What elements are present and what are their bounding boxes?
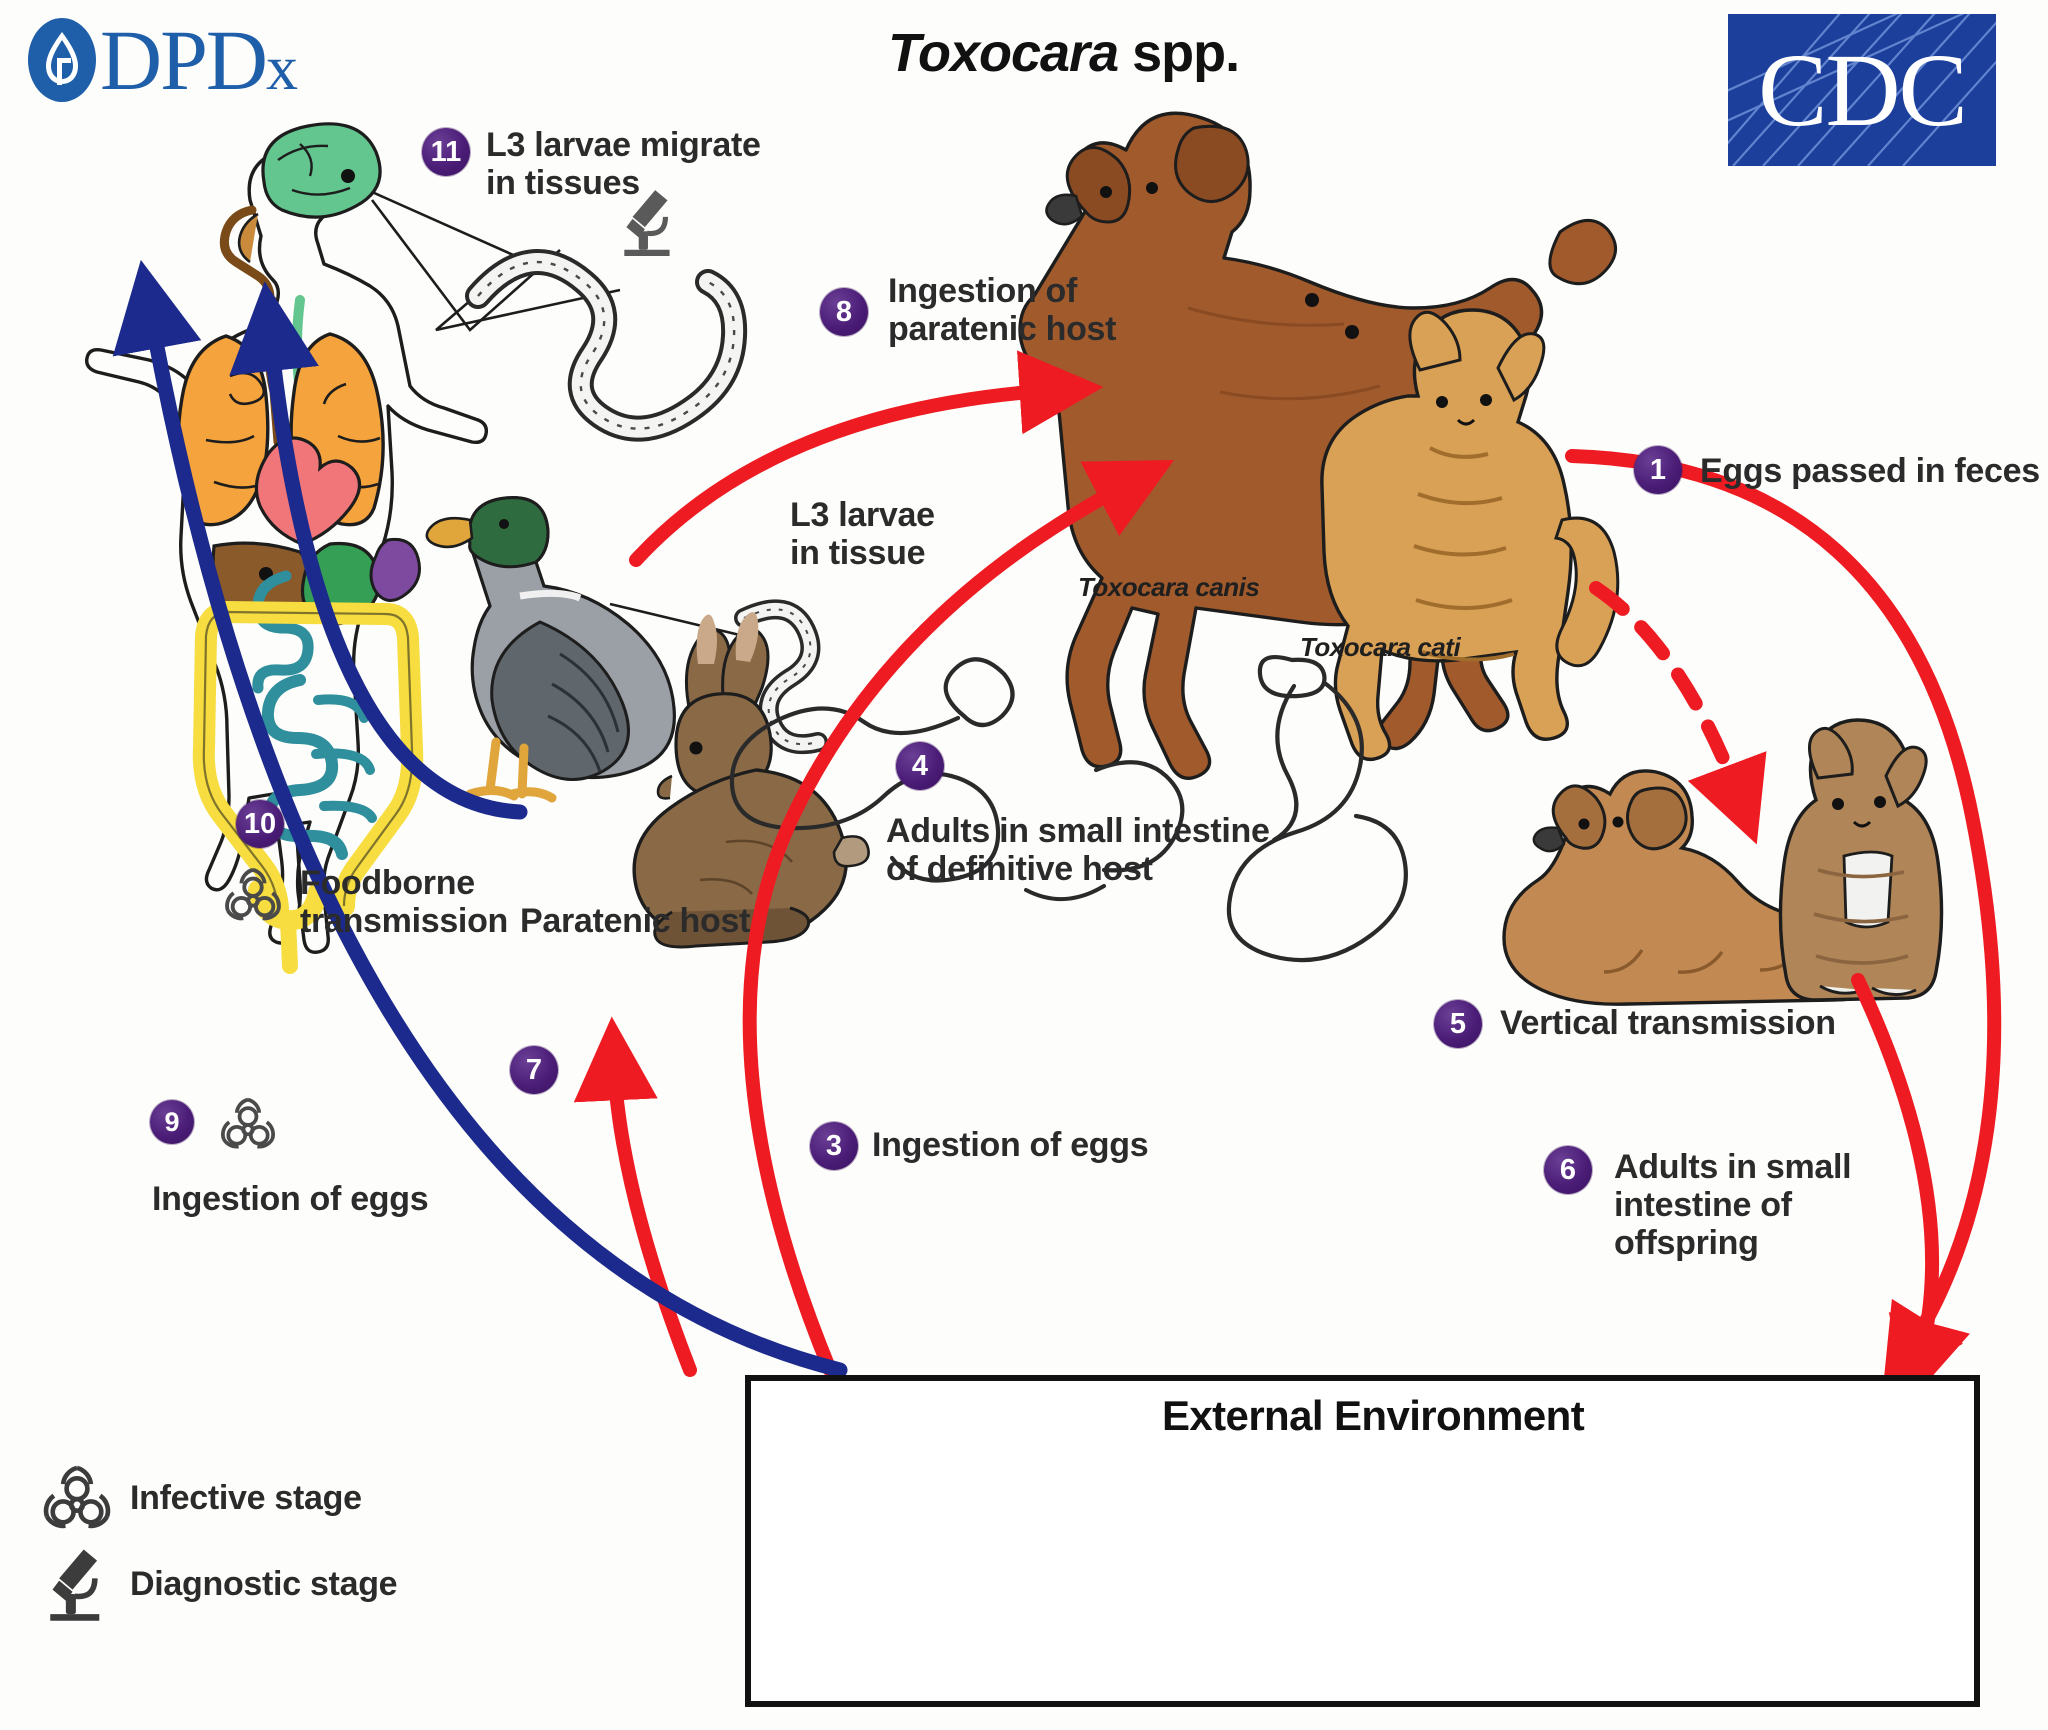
arrow-step-5-vertical bbox=[1596, 588, 1740, 800]
biohazard-icon-step-10 bbox=[222, 864, 284, 926]
step-label-4: Adults in small intestine of definitive … bbox=[886, 812, 1270, 888]
step-badge-10[interactable]: 10 bbox=[236, 800, 284, 848]
biohazard-icon bbox=[40, 1461, 114, 1535]
step-badge-5[interactable]: 5 bbox=[1434, 1000, 1482, 1048]
step-label-5: Vertical transmission bbox=[1500, 1004, 1836, 1042]
step-badge-9[interactable]: 9 bbox=[150, 1100, 194, 1144]
label-paratenic-host: Paratenic host bbox=[520, 902, 750, 940]
kitten-figure bbox=[1780, 720, 1941, 1000]
microscope-icon bbox=[40, 1545, 114, 1623]
step-label-9: Ingestion of eggs bbox=[152, 1180, 428, 1218]
biohazard-icon-step-9 bbox=[218, 1094, 278, 1154]
human-anatomy-figure bbox=[87, 124, 487, 966]
step-badge-4[interactable]: 4 bbox=[896, 742, 944, 790]
step-badge-3[interactable]: 3 bbox=[810, 1122, 858, 1170]
human-leader-lines bbox=[372, 192, 620, 330]
legend-row-infective: Infective stage bbox=[40, 1455, 397, 1541]
arrow-step-7 bbox=[614, 1064, 690, 1370]
legend-row-diagnostic: Diagnostic stage bbox=[40, 1541, 397, 1627]
step-badge-11[interactable]: 11 bbox=[422, 128, 470, 176]
external-environment-title: External Environment bbox=[1162, 1392, 1584, 1440]
step-label-3: Ingestion of eggs bbox=[872, 1126, 1148, 1164]
rabbit-figure bbox=[634, 612, 868, 947]
microscope-icon-step-11 bbox=[616, 186, 682, 258]
legend: Infective stage Diagnostic stage bbox=[40, 1455, 397, 1627]
step-badge-8[interactable]: 8 bbox=[820, 288, 868, 336]
duck-figure bbox=[427, 498, 675, 798]
label-l3-larvae-in-tissue: L3 larvae in tissue bbox=[790, 496, 935, 572]
step-badge-6[interactable]: 6 bbox=[1544, 1146, 1592, 1194]
step-label-1: Eggs passed in feces bbox=[1700, 452, 2040, 490]
legend-label-diagnostic: Diagnostic stage bbox=[130, 1565, 397, 1604]
diagram-canvas: DPDx Toxocara spp. CDC ™ bbox=[0, 0, 2048, 1730]
label-toxocara-canis: Toxocara canis bbox=[1078, 572, 1259, 603]
step-badge-1[interactable]: 1 bbox=[1634, 446, 1682, 494]
step-badge-7[interactable]: 7 bbox=[510, 1046, 558, 1094]
arrow-step-6 bbox=[1858, 980, 1932, 1358]
step-label-10: Foodborne transmission bbox=[300, 864, 508, 940]
legend-label-infective: Infective stage bbox=[130, 1479, 362, 1518]
step-label-8: Ingestion of paratenic host bbox=[888, 272, 1116, 348]
label-toxocara-cati: Toxocara cati bbox=[1300, 632, 1460, 663]
step-label-6: Adults in small intestine of offspring bbox=[1614, 1148, 1851, 1262]
